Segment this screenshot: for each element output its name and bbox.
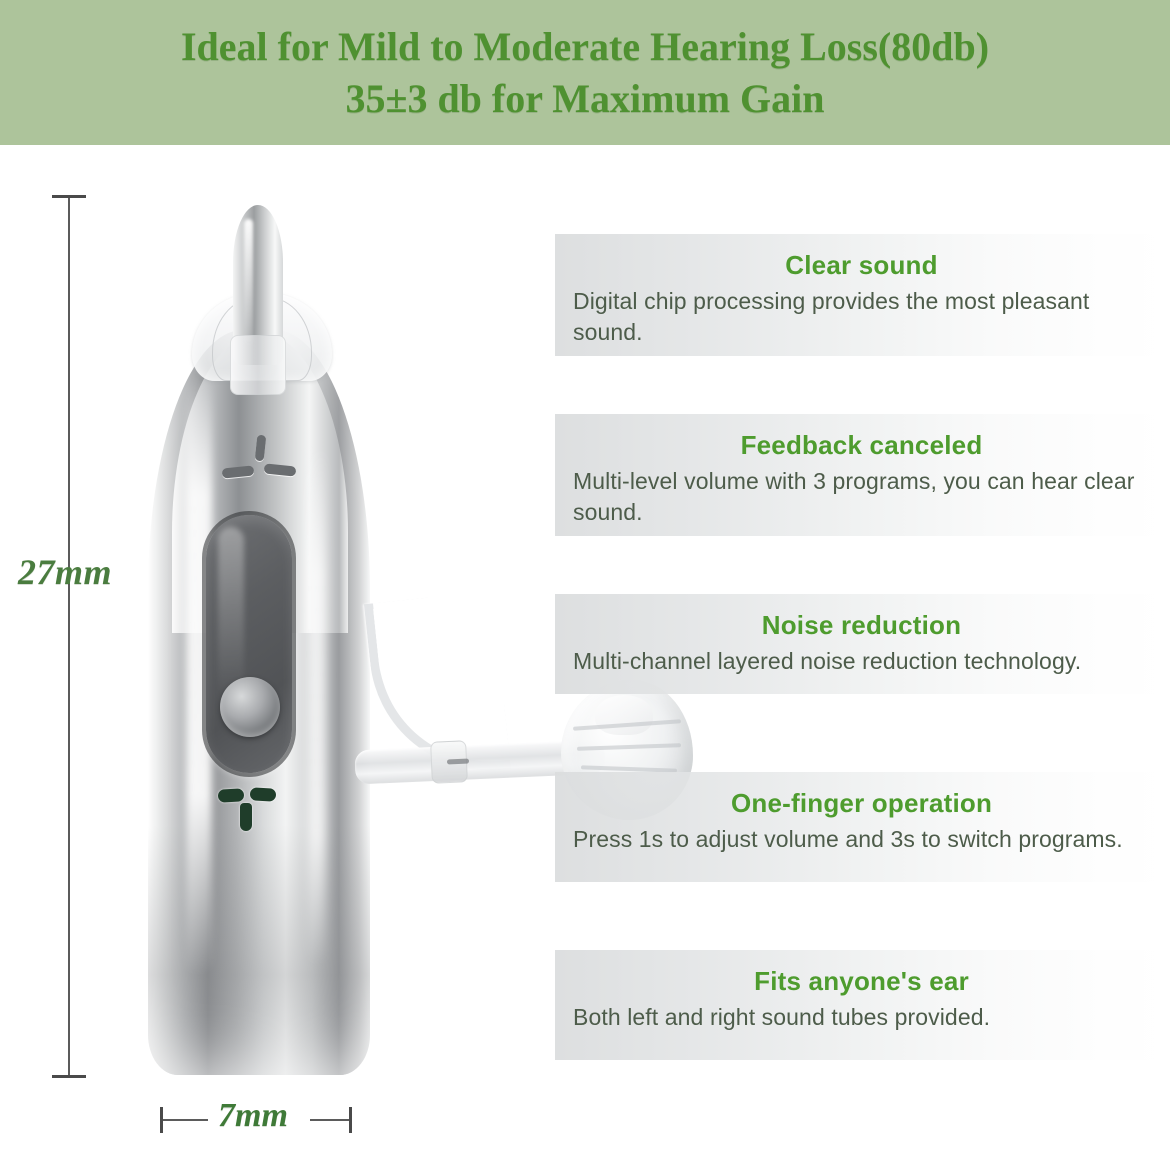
vent-prong-right — [264, 463, 297, 476]
feature-panel-noise-reduction: Noise reduction Multi-channel layered no… — [555, 594, 1170, 694]
t-mark-stem — [240, 803, 252, 831]
feature-panel-clear-sound: Clear sound Digital chip processing prov… — [555, 234, 1170, 356]
width-dimension-line-right — [310, 1119, 352, 1121]
device-highlight-right — [308, 445, 326, 965]
header-title-line1: Ideal for Mild to Moderate Hearing Loss(… — [181, 21, 989, 73]
vent-prong-left — [222, 465, 255, 478]
feature-body: Press 1s to adjust volume and 3s to swit… — [573, 824, 1150, 855]
feature-panel-feedback-canceled: Feedback canceled Multi-level volume wit… — [555, 414, 1170, 536]
feature-title: Fits anyone's ear — [573, 964, 1150, 998]
height-dimension-cap-top — [52, 195, 86, 198]
infographic-canvas: Ideal for Mild to Moderate Hearing Loss(… — [0, 0, 1170, 1155]
sound-tube-slot — [447, 759, 469, 765]
multi-function-button[interactable] — [220, 677, 280, 737]
sound-tip-highlight — [244, 219, 253, 349]
feature-title: Noise reduction — [573, 608, 1150, 642]
width-dimension-line-left — [160, 1119, 208, 1121]
vent-prong-top — [255, 435, 267, 462]
height-dimension-line — [68, 196, 70, 1078]
height-dimension-cap-bottom — [52, 1075, 86, 1078]
width-dimension-cap-left — [160, 1107, 163, 1133]
feature-title: One-finger operation — [573, 786, 1150, 820]
feature-panel-one-finger-operation: One-finger operation Press 1s to adjust … — [555, 772, 1170, 882]
sound-tip-collar — [230, 335, 286, 395]
feature-body: Multi-channel layered noise reduction te… — [573, 646, 1150, 677]
feature-body: Digital chip processing provides the mos… — [573, 286, 1150, 348]
ear-dome-highlight — [595, 695, 653, 735]
feature-body: Both left and right sound tubes provided… — [573, 1002, 1150, 1033]
t-mark-left-arm — [218, 788, 245, 802]
feature-panel-fits-anyones-ear: Fits anyone's ear Both left and right so… — [555, 950, 1170, 1060]
width-dimension-label: 7mm — [218, 1097, 288, 1135]
t-mark-right-arm — [250, 787, 277, 801]
t-shaped-marking-icon — [218, 787, 282, 835]
feature-body: Multi-level volume with 3 programs, you … — [573, 466, 1150, 528]
header-title-line2: 35±3 db for Maximum Gain — [345, 73, 824, 125]
header-banner: Ideal for Mild to Moderate Hearing Loss(… — [0, 0, 1170, 145]
feature-title: Clear sound — [573, 248, 1150, 282]
device-shell-shading — [148, 825, 370, 1075]
height-dimension-label: 27mm — [18, 551, 112, 593]
feature-title: Feedback canceled — [573, 428, 1150, 462]
three-prong-vent-icon — [220, 435, 300, 493]
width-dimension-cap-right — [349, 1107, 352, 1133]
control-recess-highlight — [218, 527, 244, 697]
